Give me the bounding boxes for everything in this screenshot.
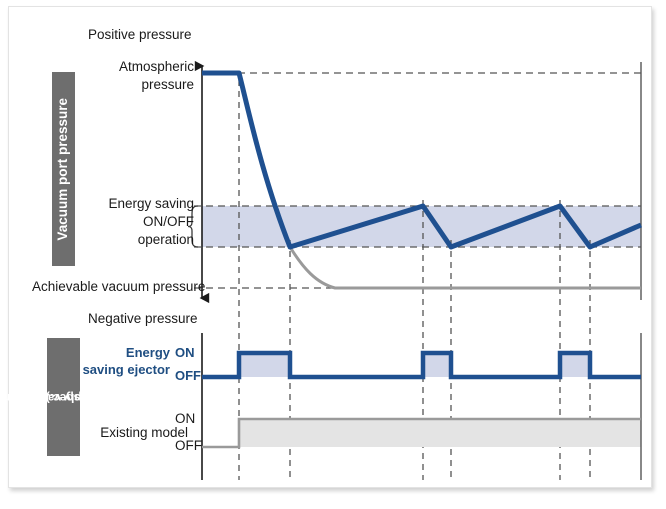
supply-valve-signal-side-label: Supply valve signal (N.C. spec.): [47, 338, 80, 456]
supply-valve-signal-side-label-line2: (N.C. spec.): [23, 390, 134, 405]
vacuum-port-pressure-side-label-text: Vacuum port pressure: [56, 98, 71, 241]
existing-model-off-label: OFF: [175, 438, 202, 453]
energy-saving-operation-label-line3: operation: [84, 232, 194, 247]
energy-saving-operation-label-line2: ON/OFF: [84, 214, 194, 229]
ejector-pulse-fill-2: [423, 353, 451, 377]
existing-model-pressure-curve: [290, 247, 641, 288]
negative-pressure-label: Negative pressure: [88, 311, 198, 326]
atmospheric-pressure-label-line1: Atmospheric: [94, 59, 194, 74]
energy-saving-ejector-on-label: ON: [175, 345, 195, 360]
existing-model-pulse-fill: [239, 419, 641, 447]
ejector-pulse-fill-3: [560, 353, 590, 377]
energy-saving-ejector-label-line1: Energy: [84, 345, 170, 360]
energy-saving-ejector-off-label: OFF: [175, 368, 201, 383]
atmospheric-pressure-label-line2: pressure: [94, 77, 194, 92]
existing-model-on-label: ON: [175, 411, 195, 426]
energy-saving-ejector-label-line2: saving ejector: [64, 362, 170, 377]
existing-model-label: Existing model: [84, 425, 188, 440]
energy-saving-operation-label-line1: Energy saving: [84, 196, 194, 211]
supply-valve-signal-side-label-text: Supply valve signal (N.C. spec.): [41, 341, 86, 452]
achievable-vacuum-pressure-label: Achievable vacuum pressure: [32, 279, 205, 294]
vacuum-port-pressure-side-label: Vacuum port pressure: [52, 72, 75, 266]
diagram-stage: Vacuum port pressure Supply valve signal…: [0, 0, 666, 509]
ejector-pulse-fill-1: [239, 353, 290, 377]
positive-pressure-label: Positive pressure: [88, 27, 192, 42]
